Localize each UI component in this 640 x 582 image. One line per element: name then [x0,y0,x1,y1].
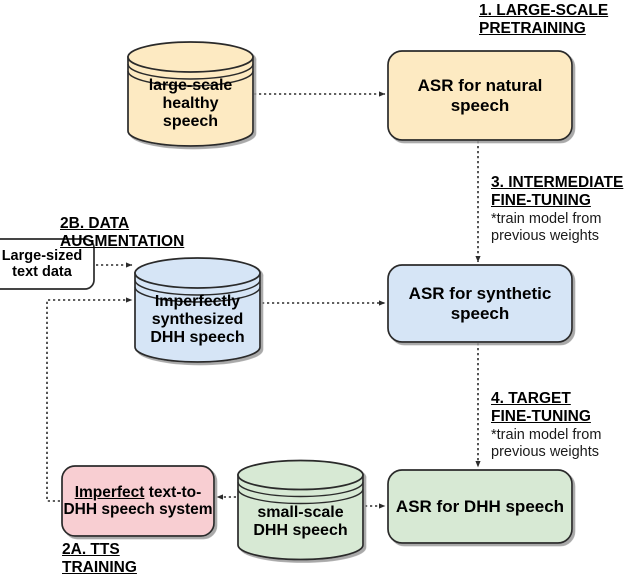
stage-title-line-1: 3. INTERMEDIATE [491,174,640,192]
stage-title-line-2: AUGMENTATION [60,233,235,251]
stage-note-text: *train model from previous weights [491,427,640,460]
stage-label-4: 4. TARGET FINE-TUNING *train model from … [491,390,640,460]
node-imperfectly-synthesized-dhh-speech [135,258,260,362]
diagram-canvas [0,0,640,582]
stage-label-2a: 2A. TTS TRAINING [62,541,212,576]
stage-title-line-1: 1. LARGE-SCALE [479,2,640,20]
stage-label-3: 3. INTERMEDIATE FINE-TUNING *train model… [491,174,640,244]
node-asr-synthetic-speech [388,265,572,342]
stage-title-line-2: TRAINING [62,559,212,577]
pipeline-diagram: large-scale healthy speech ASR for natur… [0,0,640,582]
stage-title-line-2: PRETRAINING [479,20,640,38]
node-asr-dhh-speech [388,470,572,543]
stage-title-line-1: 2A. TTS [62,541,212,559]
node-asr-natural-speech [388,51,572,140]
node-large-scale-healthy-speech [128,42,253,146]
node-imperfect-tts-system [62,466,214,536]
stage-title-line-2: FINE-TUNING [491,408,640,426]
stage-note-text: *train model from previous weights [491,211,640,244]
stage-title-line-1: 4. TARGET [491,390,640,408]
stage-title-line-2: FINE-TUNING [491,192,640,210]
stage-title-line-1: 2B. DATA [60,215,235,233]
node-small-scale-dhh-speech [238,461,363,560]
stage-label-1: 1. LARGE-SCALE PRETRAINING [479,2,640,37]
stage-label-2b: 2B. DATA AUGMENTATION [60,215,235,250]
